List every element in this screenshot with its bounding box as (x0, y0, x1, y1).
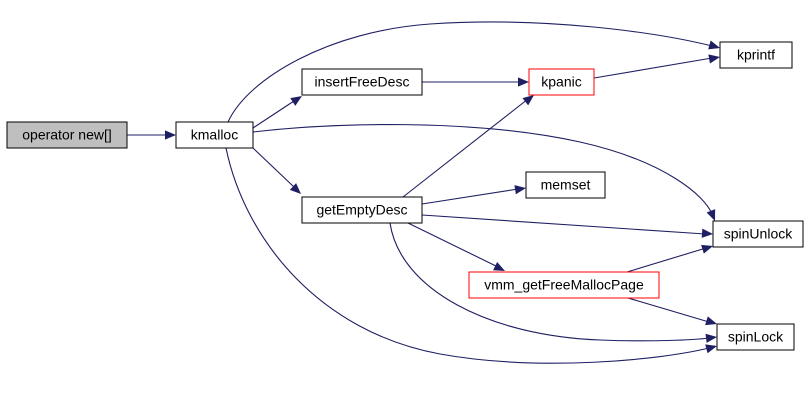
edge-getEmptyDesc-to-vmm_getFreeMallocPage (408, 223, 507, 275)
edge-getEmptyDesc-to-spinUnlock (422, 215, 713, 239)
edge-getEmptyDesc-to-kpanic (403, 91, 537, 197)
arrowhead-icon (702, 229, 714, 239)
arrowhead-icon (165, 130, 176, 139)
edge-kpanic-to-kprintf (594, 52, 721, 78)
node-label: spinUnlock (724, 226, 793, 242)
edge-vmm_getFreeMallocPage-to-spinLock (628, 298, 718, 328)
node-kmalloc[interactable]: kmalloc (176, 122, 253, 148)
node-memset[interactable]: memset (526, 172, 605, 198)
edge-line (628, 298, 709, 322)
edge-line (253, 148, 294, 187)
node-kprintf[interactable]: kprintf (720, 42, 792, 68)
edge-line (422, 189, 518, 204)
node-spinUnlock[interactable]: spinUnlock (713, 221, 803, 247)
edges-layer (127, 22, 721, 363)
node-getEmptyDesc[interactable]: getEmptyDesc (302, 197, 422, 223)
edge-line (228, 22, 712, 122)
edge-kmalloc-to-getEmptyDesc (253, 148, 304, 197)
edge-line (408, 223, 498, 267)
edge-line (594, 58, 712, 78)
node-label: memset (541, 177, 591, 193)
node-vmm_getFreeMallocPage[interactable]: vmm_getFreeMallocPage (469, 272, 659, 298)
node-label: kpanic (541, 74, 581, 90)
node-label: vmm_getFreeMallocPage (484, 277, 644, 293)
edge-vmm_getFreeMallocPage-to-spinUnlock (627, 242, 714, 272)
edge-line (627, 248, 706, 272)
arrowhead-icon (514, 183, 526, 194)
node-insertFreeDesc[interactable]: insertFreeDesc (302, 69, 422, 95)
arrowhead-icon (705, 316, 718, 328)
edge-kmalloc-to-spinLock (226, 148, 718, 363)
arrowhead-icon (705, 342, 718, 354)
arrowhead-icon (708, 41, 721, 53)
arrowhead-icon (701, 242, 714, 254)
node-spinLock[interactable]: spinLock (717, 324, 794, 350)
node-label: kmalloc (191, 127, 238, 143)
node-kpanic[interactable]: kpanic (529, 69, 594, 95)
node-label: kprintf (737, 47, 775, 63)
node-label: insertFreeDesc (315, 74, 410, 90)
node-label: spinLock (728, 329, 784, 345)
edge-line (403, 99, 528, 197)
arrowhead-icon (708, 52, 720, 63)
call-graph-svg: operator new[]kmallocinsertFreeDesckpani… (0, 0, 808, 407)
edge-line (253, 101, 294, 128)
node-operator-new-array[interactable]: operator new[] (7, 122, 127, 148)
node-label: operator new[] (22, 127, 112, 143)
edge-insertFreeDesc-to-kpanic (422, 77, 529, 86)
edge-line (226, 148, 709, 363)
call-graph-container: operator new[]kmallocinsertFreeDesckpani… (0, 0, 808, 407)
edge-line (422, 215, 705, 234)
edge-operator-new-array-to-kmalloc (127, 130, 176, 139)
node-label: getEmptyDesc (316, 202, 407, 218)
arrowhead-icon (518, 77, 529, 86)
edge-getEmptyDesc-to-memset (422, 183, 527, 204)
edge-kmalloc-to-insertFreeDesc (253, 92, 305, 128)
arrowhead-icon (706, 332, 718, 342)
